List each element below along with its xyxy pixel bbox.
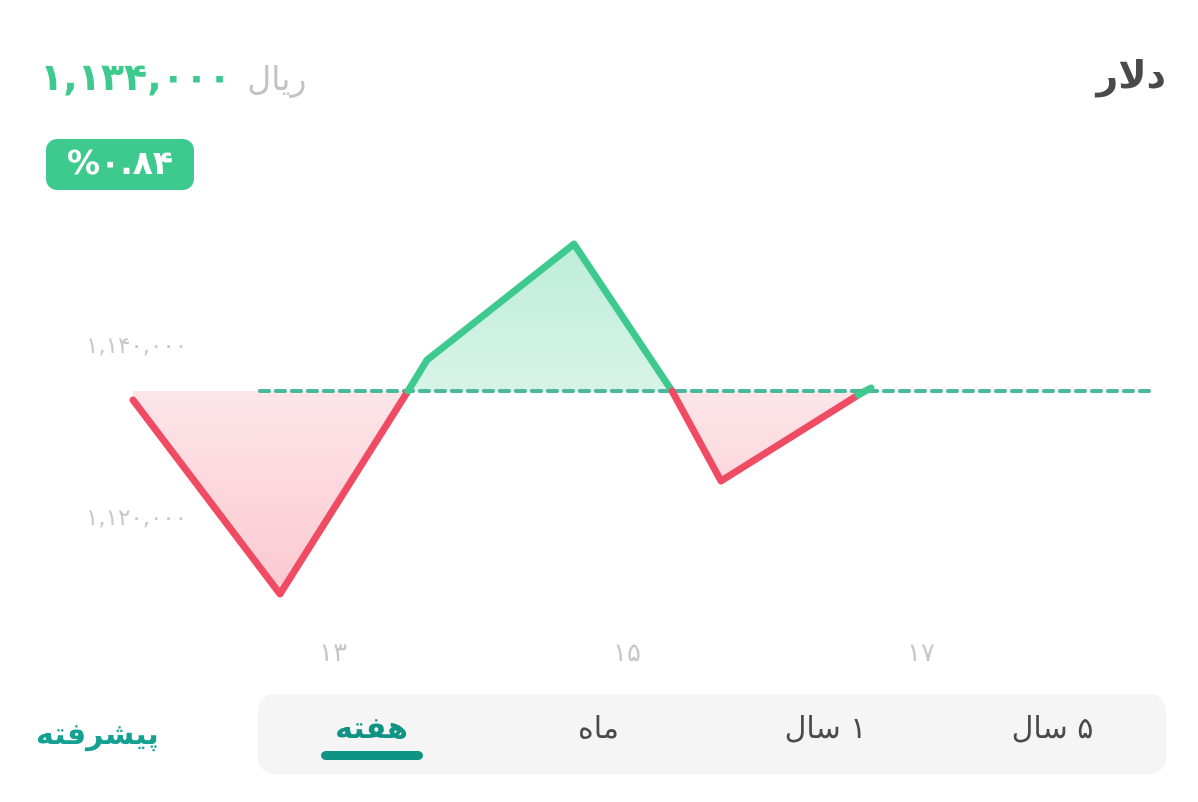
tab-month-label: ماه [578, 711, 619, 746]
page-title: دلار [1096, 56, 1166, 94]
y-axis-tick-lower: ۱,۱۲۰,۰۰۰ [86, 507, 187, 530]
footer: پیشرفته هفته ماه ۱ سال ۵ سال [0, 684, 1198, 802]
advanced-link[interactable]: پیشرفته [36, 720, 159, 750]
tab-five-year[interactable]: ۵ سال [939, 706, 1166, 762]
tab-month[interactable]: ماه [485, 706, 712, 762]
price-chart[interactable]: ۱,۱۴۰,۰۰۰ ۱,۱۲۰,۰۰۰ ۱۳ ۱۵ ۱۷ [0, 200, 1198, 680]
currency-chart-screen: دلار ریال ۱,۱۳۴,۰۰۰ %۰.۸۴ [0, 0, 1198, 802]
tab-active-indicator [321, 751, 423, 760]
y-axis-tick-upper: ۱,۱۴۰,۰۰۰ [86, 335, 187, 358]
current-price-value: ۱,۱۳۴,۰۰۰ [40, 58, 231, 96]
chart-canvas[interactable] [0, 200, 1198, 680]
currency-unit-label: ریال [247, 62, 306, 95]
x-axis-tick-17: ۱۷ [907, 640, 935, 666]
status-badge: %۰.۸۴ [46, 139, 194, 190]
x-axis-tick-15: ۱۵ [613, 640, 641, 666]
tab-one-year-label: ۱ سال [785, 711, 867, 746]
tab-one-year[interactable]: ۱ سال [712, 706, 939, 762]
x-axis-tick-13: ۱۳ [319, 640, 347, 666]
tab-week-label: هفته [335, 711, 408, 746]
price-summary: ریال ۱,۱۳۴,۰۰۰ [40, 58, 306, 96]
header: دلار ریال ۱,۱۳۴,۰۰۰ %۰.۸۴ [0, 0, 1198, 210]
tab-week[interactable]: هفته [258, 706, 485, 762]
range-tab-bar: هفته ماه ۱ سال ۵ سال [258, 694, 1166, 774]
tab-five-year-label: ۵ سال [1012, 711, 1094, 746]
